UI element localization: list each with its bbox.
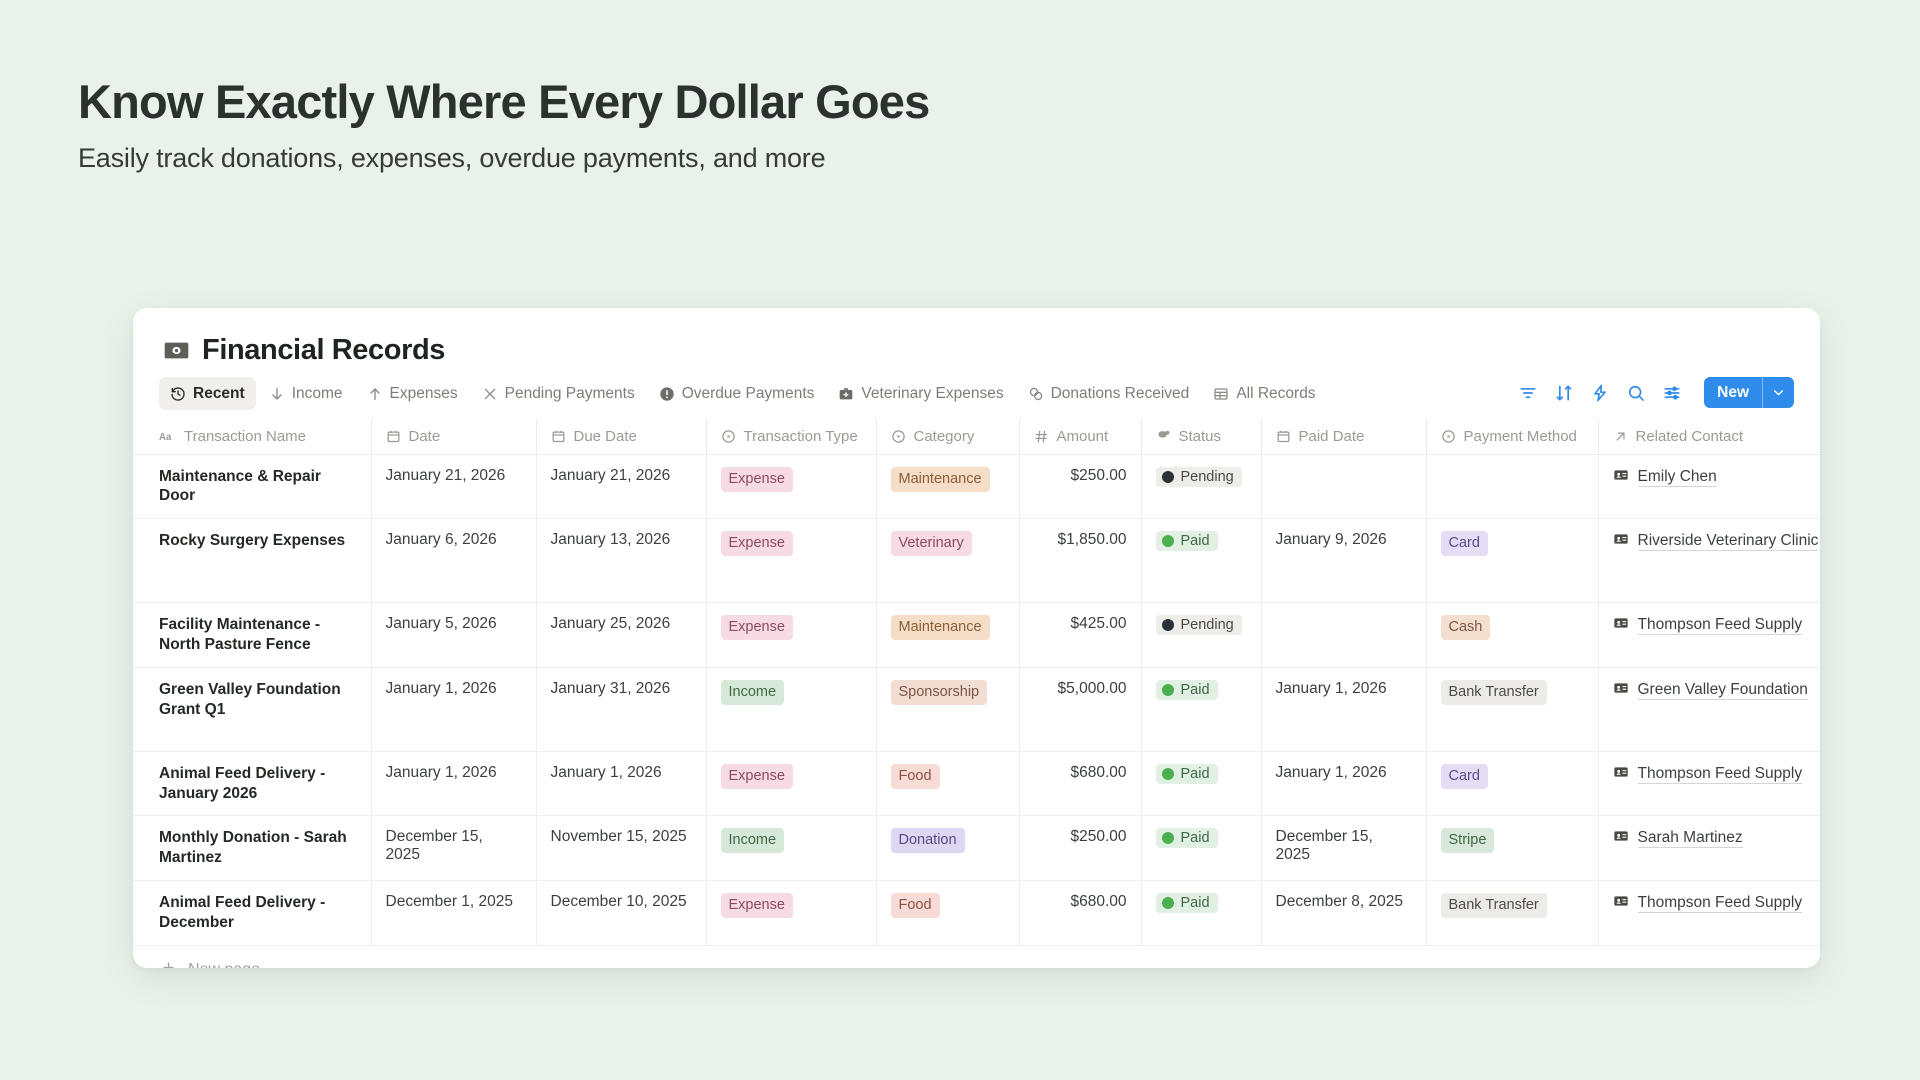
tab-label: All Records: [1236, 385, 1315, 403]
table-header-row: Aa Transaction Name: [133, 419, 1820, 454]
status-badge: Pending: [1156, 467, 1242, 487]
calendar-icon: [1276, 429, 1291, 444]
cell-due-date[interactable]: December 10, 2025: [536, 881, 706, 946]
records-table: Aa Transaction Name: [133, 419, 1820, 946]
cell-due-date[interactable]: January 1, 2026: [536, 751, 706, 816]
cell-paid-date[interactable]: December 8, 2025: [1261, 881, 1426, 946]
clock-rotate-left-icon: [170, 386, 186, 402]
cell-related-contact[interactable]: Emily Chen: [1598, 454, 1820, 519]
column-header-category[interactable]: Category: [876, 419, 1019, 454]
related-contact[interactable]: Thompson Feed Supply: [1613, 764, 1821, 785]
exclamation-circle-icon: [659, 386, 675, 402]
cell-due-date[interactable]: January 31, 2026: [536, 667, 706, 751]
cell-transaction-type[interactable]: Expense: [706, 881, 876, 946]
cell-category[interactable]: Donation: [876, 816, 1019, 881]
medical-bag-icon: [838, 386, 854, 402]
cell-transaction-type[interactable]: Expense: [706, 603, 876, 668]
related-contact[interactable]: Green Valley Foundation: [1613, 680, 1821, 701]
related-contact[interactable]: Sarah Martinez: [1613, 828, 1821, 849]
status-icon: [1156, 429, 1171, 444]
tab-pending-payments[interactable]: Pending Payments: [471, 377, 646, 410]
page-title: Know Exactly Where Every Dollar Goes: [78, 76, 929, 129]
cell-payment-method[interactable]: Cash: [1426, 603, 1598, 668]
cell-transaction-name[interactable]: Facility Maintenance - North Pasture Fen…: [133, 603, 371, 668]
cell-transaction-name[interactable]: Animal Feed Delivery - December: [133, 881, 371, 946]
cell-date[interactable]: January 1, 2026: [371, 667, 536, 751]
lightning-icon[interactable]: [1590, 383, 1610, 403]
coins-icon: [1028, 386, 1044, 402]
column-header-due-date[interactable]: Due Date: [536, 419, 706, 454]
column-header-date[interactable]: Date: [371, 419, 536, 454]
cell-date[interactable]: January 5, 2026: [371, 603, 536, 668]
tag: Sponsorship: [891, 680, 988, 705]
tag: Expense: [721, 467, 793, 492]
cell-status[interactable]: Paid: [1141, 519, 1261, 603]
card-header: Financial Records: [133, 308, 1820, 367]
cell-transaction-type[interactable]: Expense: [706, 519, 876, 603]
calendar-icon: [551, 429, 566, 444]
column-header-related-contact[interactable]: Related Contact: [1598, 419, 1820, 454]
contact-card-icon: [1613, 828, 1629, 849]
cell-transaction-name[interactable]: Animal Feed Delivery - January 2026: [133, 751, 371, 816]
cell-paid-date[interactable]: January 1, 2026: [1261, 667, 1426, 751]
tag: Income: [721, 828, 785, 853]
column-label: Status: [1179, 428, 1222, 445]
cell-related-contact[interactable]: Thompson Feed Supply: [1598, 603, 1820, 668]
table-row[interactable]: Rocky Surgery ExpensesJanuary 6, 2026Jan…: [133, 519, 1820, 603]
column-header-amount[interactable]: Amount: [1019, 419, 1141, 454]
plus-icon: [161, 960, 176, 968]
cell-status[interactable]: Pending: [1141, 454, 1261, 519]
banknote-icon: [163, 337, 190, 364]
related-contact[interactable]: Thompson Feed Supply: [1613, 615, 1821, 636]
cell-date[interactable]: January 1, 2026: [371, 751, 536, 816]
tab-overdue-payments[interactable]: Overdue Payments: [648, 377, 826, 410]
tab-income[interactable]: Income: [258, 377, 354, 410]
status-badge: Pending: [1156, 615, 1242, 635]
column-header-paid-date[interactable]: Paid Date: [1261, 419, 1426, 454]
table-row[interactable]: Animal Feed Delivery - DecemberDecember …: [133, 881, 1820, 946]
contact-card-icon: [1613, 893, 1629, 914]
tab-label: Income: [292, 385, 343, 403]
records-table-wrap: Aa Transaction Name: [133, 419, 1820, 946]
tag: Expense: [721, 764, 793, 789]
page-root: Know Exactly Where Every Dollar Goes Eas…: [0, 0, 1920, 1080]
tab-label: Veterinary Expenses: [861, 385, 1003, 403]
tag: Expense: [721, 893, 793, 918]
cell-paid-date[interactable]: December 15, 2025: [1261, 816, 1426, 881]
new-button-label: New: [1704, 377, 1762, 408]
status-badge: Paid: [1156, 828, 1218, 848]
table-icon: [1213, 386, 1229, 402]
tab-donations-received[interactable]: Donations Received: [1017, 377, 1201, 410]
column-label: Transaction Name: [184, 428, 306, 445]
status-dot-icon: [1162, 768, 1174, 780]
contact-name: Thompson Feed Supply: [1638, 616, 1803, 635]
cell-related-contact[interactable]: Riverside Veterinary Clinic: [1598, 519, 1820, 603]
contact-card-icon: [1613, 467, 1629, 488]
cell-amount[interactable]: $1,850.00: [1019, 519, 1141, 603]
column-header-transaction-name[interactable]: Aa Transaction Name: [133, 419, 371, 454]
arrow-down-icon: [269, 386, 285, 402]
cell-transaction-name[interactable]: Monthly Donation - Sarah Martinez: [133, 816, 371, 881]
cell-amount[interactable]: $250.00: [1019, 816, 1141, 881]
column-label: Due Date: [574, 428, 637, 445]
tag: Income: [721, 680, 785, 705]
column-label: Paid Date: [1299, 428, 1365, 445]
cell-date[interactable]: December 15, 2025: [371, 816, 536, 881]
cell-payment-method[interactable]: Bank Transfer: [1426, 667, 1598, 751]
tag: Card: [1441, 531, 1488, 556]
column-label: Category: [914, 428, 975, 445]
cell-due-date[interactable]: November 15, 2025: [536, 816, 706, 881]
table-row[interactable]: Facility Maintenance - North Pasture Fen…: [133, 603, 1820, 668]
cell-category[interactable]: Food: [876, 881, 1019, 946]
arrow-up-icon: [367, 386, 383, 402]
tag: Food: [891, 893, 940, 918]
cell-date[interactable]: December 1, 2025: [371, 881, 536, 946]
tab-recent[interactable]: Recent: [159, 377, 256, 410]
tag: Stripe: [1441, 828, 1495, 853]
cell-payment-method[interactable]: [1426, 454, 1598, 519]
hash-icon: [1034, 429, 1049, 444]
contact-name: Thompson Feed Supply: [1638, 894, 1803, 913]
cell-category[interactable]: Veterinary: [876, 519, 1019, 603]
status-dot-icon: [1162, 535, 1174, 547]
cell-related-contact[interactable]: Sarah Martinez: [1598, 816, 1820, 881]
cell-amount[interactable]: $250.00: [1019, 454, 1141, 519]
column-header-status[interactable]: Status: [1141, 419, 1261, 454]
tab-label: Recent: [193, 385, 245, 403]
cell-status[interactable]: Paid: [1141, 667, 1261, 751]
cell-paid-date[interactable]: [1261, 454, 1426, 519]
cell-payment-method[interactable]: Card: [1426, 751, 1598, 816]
view-tabs: Recent Income Ex: [159, 377, 1327, 410]
table-body: Maintenance & Repair DoorJanuary 21, 202…: [133, 454, 1820, 945]
select-circle-icon: [1441, 429, 1456, 444]
tag: Card: [1441, 764, 1488, 789]
sliders-icon[interactable]: [1662, 383, 1682, 403]
status-badge: Paid: [1156, 531, 1218, 551]
status-badge: Paid: [1156, 764, 1218, 784]
select-circle-icon: [721, 429, 736, 444]
tag: Expense: [721, 531, 793, 556]
cell-payment-method[interactable]: Stripe: [1426, 816, 1598, 881]
tag: Food: [891, 764, 940, 789]
cell-transaction-type[interactable]: Expense: [706, 454, 876, 519]
table-row[interactable]: Monthly Donation - Sarah MartinezDecembe…: [133, 816, 1820, 881]
tag: Cash: [1441, 615, 1491, 640]
new-page-label: New page: [188, 961, 260, 968]
aa-text-icon: Aa: [159, 430, 176, 443]
cell-payment-method[interactable]: Card: [1426, 519, 1598, 603]
cell-related-contact[interactable]: Thompson Feed Supply: [1598, 751, 1820, 816]
related-contact[interactable]: Thompson Feed Supply: [1613, 893, 1821, 914]
status-dot-icon: [1162, 471, 1174, 483]
cell-amount[interactable]: $425.00: [1019, 603, 1141, 668]
page-subtitle: Easily track donations, expenses, overdu…: [78, 143, 929, 174]
new-page-button[interactable]: New page: [133, 946, 1820, 968]
column-header-transaction-type[interactable]: Transaction Type: [706, 419, 876, 454]
svg-text:Aa: Aa: [159, 432, 172, 443]
cell-category[interactable]: Sponsorship: [876, 667, 1019, 751]
chevron-down-icon[interactable]: [1763, 377, 1794, 408]
cell-amount[interactable]: $680.00: [1019, 881, 1141, 946]
table-row[interactable]: Animal Feed Delivery - January 2026Janua…: [133, 751, 1820, 816]
tag: Maintenance: [891, 467, 990, 492]
column-label: Date: [409, 428, 441, 445]
tab-label: Pending Payments: [505, 385, 635, 403]
cell-related-contact[interactable]: Green Valley Foundation: [1598, 667, 1820, 751]
cell-date[interactable]: January 6, 2026: [371, 519, 536, 603]
tag: Expense: [721, 615, 793, 640]
cell-category[interactable]: Food: [876, 751, 1019, 816]
cell-amount[interactable]: $5,000.00: [1019, 667, 1141, 751]
new-button[interactable]: New: [1704, 377, 1794, 408]
cell-transaction-name[interactable]: Maintenance & Repair Door: [133, 454, 371, 519]
cell-amount[interactable]: $680.00: [1019, 751, 1141, 816]
table-row[interactable]: Green Valley Foundation Grant Q1January …: [133, 667, 1820, 751]
hero-section: Know Exactly Where Every Dollar Goes Eas…: [78, 76, 929, 174]
tab-all-records[interactable]: All Records: [1202, 377, 1326, 410]
cell-transaction-type[interactable]: Expense: [706, 751, 876, 816]
cell-status[interactable]: Paid: [1141, 881, 1261, 946]
cell-category[interactable]: Maintenance: [876, 603, 1019, 668]
cell-due-date[interactable]: January 21, 2026: [536, 454, 706, 519]
cell-related-contact[interactable]: Thompson Feed Supply: [1598, 881, 1820, 946]
contact-name: Emily Chen: [1638, 468, 1717, 487]
column-label: Related Contact: [1636, 428, 1744, 445]
filter-icon[interactable]: [1518, 383, 1538, 403]
cell-status[interactable]: Paid: [1141, 816, 1261, 881]
cell-date[interactable]: January 21, 2026: [371, 454, 536, 519]
tab-veterinary-expenses[interactable]: Veterinary Expenses: [827, 377, 1014, 410]
cell-due-date[interactable]: January 25, 2026: [536, 603, 706, 668]
column-label: Transaction Type: [744, 428, 858, 445]
cell-category[interactable]: Maintenance: [876, 454, 1019, 519]
search-icon[interactable]: [1626, 383, 1646, 403]
tag: Veterinary: [891, 531, 972, 556]
status-badge: Paid: [1156, 893, 1218, 913]
status-dot-icon: [1162, 832, 1174, 844]
contact-card-icon: [1613, 615, 1629, 636]
contact-name: Thompson Feed Supply: [1638, 765, 1803, 784]
tab-label: Overdue Payments: [682, 385, 815, 403]
tag: Donation: [891, 828, 965, 853]
column-label: Payment Method: [1464, 428, 1577, 445]
cell-payment-method[interactable]: Bank Transfer: [1426, 881, 1598, 946]
select-circle-icon: [891, 429, 906, 444]
calendar-icon: [386, 429, 401, 444]
status-dot-icon: [1162, 897, 1174, 909]
financial-records-card: Financial Records Recent: [133, 308, 1820, 968]
status-dot-icon: [1162, 684, 1174, 696]
tab-label: Donations Received: [1051, 385, 1190, 403]
sort-icon[interactable]: [1554, 383, 1574, 403]
related-contact[interactable]: Riverside Veterinary Clinic: [1613, 531, 1821, 552]
related-contact[interactable]: Emily Chen: [1613, 467, 1821, 488]
column-label: Amount: [1057, 428, 1109, 445]
table-toolbar: New: [1518, 377, 1794, 408]
tag: Bank Transfer: [1441, 680, 1547, 705]
cell-transaction-name[interactable]: Rocky Surgery Expenses: [133, 519, 371, 603]
cell-status[interactable]: Paid: [1141, 751, 1261, 816]
cell-transaction-name[interactable]: Green Valley Foundation Grant Q1: [133, 667, 371, 751]
cell-transaction-type[interactable]: Income: [706, 667, 876, 751]
contact-name: Riverside Veterinary Clinic: [1638, 532, 1819, 551]
tab-label: Expenses: [390, 385, 458, 403]
table-row[interactable]: Maintenance & Repair DoorJanuary 21, 202…: [133, 454, 1820, 519]
x-icon: [482, 386, 498, 402]
tag: Bank Transfer: [1441, 893, 1547, 918]
cell-due-date[interactable]: January 13, 2026: [536, 519, 706, 603]
view-tabbar: Recent Income Ex: [133, 367, 1820, 410]
status-badge: Paid: [1156, 680, 1218, 700]
contact-card-icon: [1613, 531, 1629, 552]
contact-name: Green Valley Foundation: [1638, 681, 1808, 700]
cell-paid-date[interactable]: January 9, 2026: [1261, 519, 1426, 603]
tab-expenses[interactable]: Expenses: [356, 377, 469, 410]
cell-paid-date[interactable]: [1261, 603, 1426, 668]
cell-transaction-type[interactable]: Income: [706, 816, 876, 881]
status-dot-icon: [1162, 619, 1174, 631]
tag: Maintenance: [891, 615, 990, 640]
contact-card-icon: [1613, 680, 1629, 701]
contact-card-icon: [1613, 764, 1629, 785]
arrow-up-right-icon: [1613, 429, 1628, 444]
cell-status[interactable]: Pending: [1141, 603, 1261, 668]
cell-paid-date[interactable]: January 1, 2026: [1261, 751, 1426, 816]
column-header-payment-method[interactable]: Payment Method: [1426, 419, 1598, 454]
contact-name: Sarah Martinez: [1638, 829, 1743, 848]
card-title: Financial Records: [202, 334, 445, 367]
